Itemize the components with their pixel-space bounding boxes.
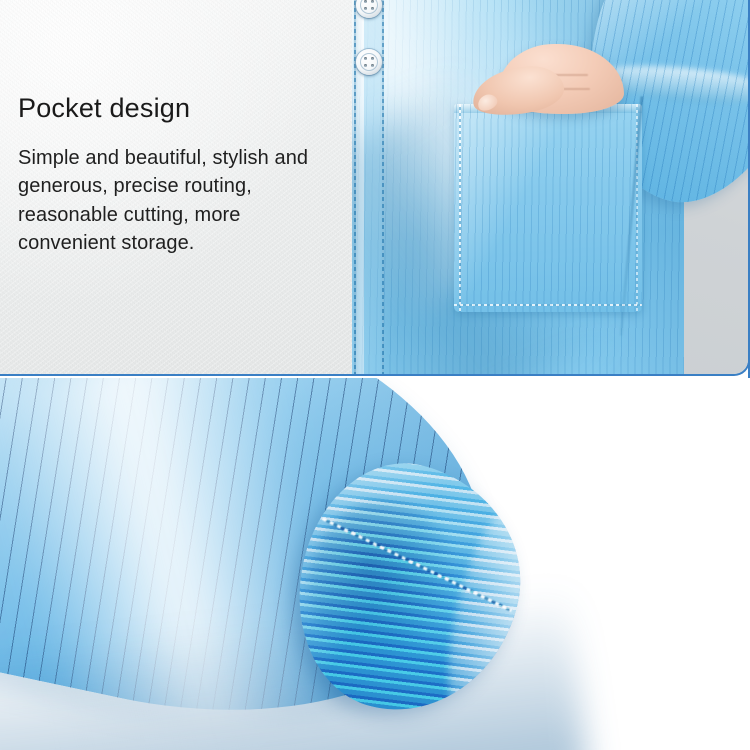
placket-seam-right: [382, 0, 384, 374]
placket-seam-left: [354, 0, 356, 374]
shirt-button-middle: [356, 49, 382, 75]
patch-pocket: [454, 104, 642, 312]
cuff-elastic-seam: [322, 517, 512, 612]
pocket-stitching-bottom: [454, 304, 642, 306]
pocket-design-photo: [330, 0, 750, 374]
pocket-heading: Pocket design: [18, 94, 338, 124]
pocket-body-text: Simple and beautiful, stylish and genero…: [18, 144, 338, 258]
product-feature-composite: Pocket design Simple and beautiful, styl…: [0, 0, 750, 750]
pocket-stitching-left: [459, 104, 461, 312]
thumbnail: [475, 91, 499, 113]
panel-pocket-design: Pocket design Simple and beautiful, styl…: [0, 0, 750, 376]
panel-trousers-design: Trousers design The elastic closing desi…: [0, 378, 750, 750]
hand-in-pocket: [472, 44, 624, 122]
cuff-outer-edge: [432, 498, 545, 725]
cuff-shadow-fold: [303, 495, 464, 675]
pocket-copy-block: Pocket design Simple and beautiful, styl…: [18, 94, 338, 258]
